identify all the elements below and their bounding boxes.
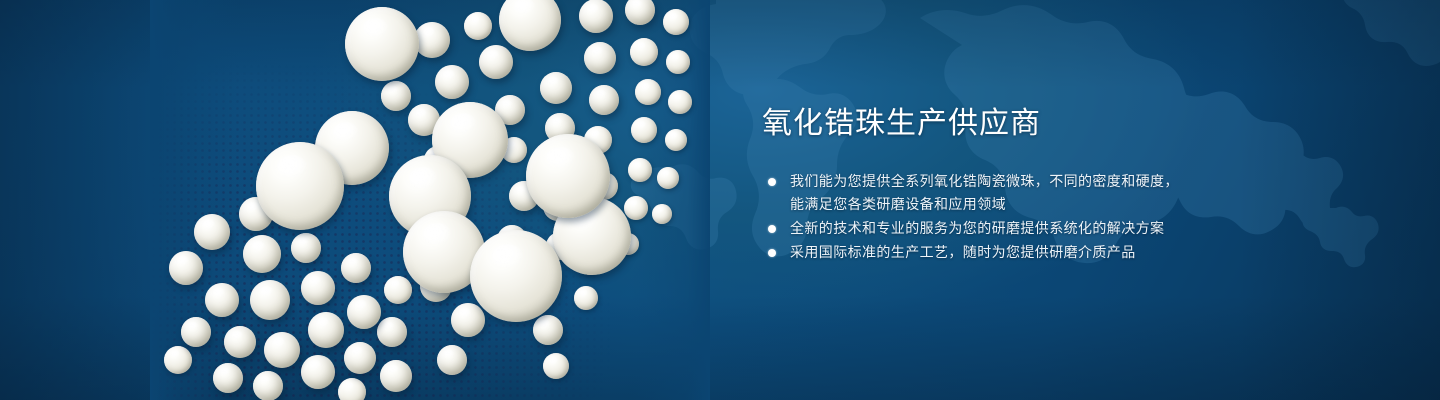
zirconia-bead (164, 346, 192, 374)
zirconia-bead (630, 38, 658, 66)
zirconia-bead (380, 360, 412, 392)
zirconia-bead (384, 276, 412, 304)
zirconia-bead (213, 363, 243, 393)
zirconia-bead (470, 230, 562, 322)
zirconia-bead (308, 312, 344, 348)
zirconia-bead (205, 283, 239, 317)
zirconia-bead (631, 117, 657, 143)
zirconia-bead (301, 355, 335, 389)
zirconia-bead (533, 315, 563, 345)
zirconia-bead (668, 90, 692, 114)
zirconia-bead (437, 345, 467, 375)
zirconia-bead (464, 12, 492, 40)
feature-list-item: 我们能为您提供全系列氧化锆陶瓷微珠，不同的密度和硬度，能满足您各类研磨设备和应用… (762, 170, 1382, 216)
zirconia-bead (624, 196, 648, 220)
zirconia-bead (589, 85, 619, 115)
zirconia-bead (584, 42, 616, 74)
banner-copy: 氧化锆珠生产供应商 我们能为您提供全系列氧化锆陶瓷微珠，不同的密度和硬度，能满足… (762, 104, 1382, 265)
zirconia-bead (224, 326, 256, 358)
bullet-dot-icon (768, 178, 776, 186)
zirconia-bead (381, 81, 411, 111)
feature-list-item-line: 我们能为您提供全系列氧化锆陶瓷微珠，不同的密度和硬度， (790, 170, 1382, 193)
zirconia-bead (574, 286, 598, 310)
feature-list: 我们能为您提供全系列氧化锆陶瓷微珠，不同的密度和硬度，能满足您各类研磨设备和应用… (762, 170, 1382, 264)
zirconia-bead (526, 134, 610, 218)
zirconia-bead (625, 0, 655, 25)
zirconia-bead (250, 280, 290, 320)
zirconia-bead (347, 295, 381, 329)
zirconia-bead (243, 235, 281, 273)
feature-list-item-line: 采用国际标准的生产工艺，随时为您提供研磨介质产品 (790, 241, 1382, 264)
zirconia-bead (264, 332, 300, 368)
zirconia-bead (663, 9, 689, 35)
zirconia-bead (451, 303, 485, 337)
zirconia-bead (657, 167, 679, 189)
zirconia-bead (540, 72, 572, 104)
zirconia-bead (338, 378, 366, 400)
zirconia-bead (377, 317, 407, 347)
zirconia-bead (345, 7, 419, 81)
zirconia-bead (499, 0, 561, 51)
zirconia-bead (414, 22, 450, 58)
zirconia-bead (301, 271, 335, 305)
zirconia-bead (291, 233, 321, 263)
bead-cluster (150, 0, 710, 400)
zirconia-bead (256, 142, 344, 230)
zirconia-bead (181, 317, 211, 347)
zirconia-bead (665, 129, 687, 151)
zirconia-bead (666, 50, 690, 74)
hero-banner: 氧化锆珠生产供应商 我们能为您提供全系列氧化锆陶瓷微珠，不同的密度和硬度，能满足… (0, 0, 1440, 400)
zirconia-bead (435, 65, 469, 99)
zirconia-bead (579, 0, 613, 33)
feature-list-item: 采用国际标准的生产工艺，随时为您提供研磨介质产品 (762, 241, 1382, 264)
zirconia-bead (628, 158, 652, 182)
page-title: 氧化锆珠生产供应商 (762, 104, 1382, 144)
feature-list-item-line: 能满足您各类研磨设备和应用领域 (790, 193, 1382, 216)
zirconia-beads-photo (150, 0, 710, 400)
zirconia-bead (253, 371, 283, 400)
zirconia-bead (543, 353, 569, 379)
zirconia-bead (169, 251, 203, 285)
zirconia-bead (194, 214, 230, 250)
zirconia-bead (344, 342, 376, 374)
bullet-dot-icon (768, 249, 776, 257)
bullet-dot-icon (768, 225, 776, 233)
zirconia-bead (479, 45, 513, 79)
zirconia-bead (341, 253, 371, 283)
zirconia-bead (635, 79, 661, 105)
feature-list-item-line: 全新的技术和专业的服务为您的研磨提供系统化的解决方案 (790, 217, 1382, 240)
zirconia-bead (652, 204, 672, 224)
feature-list-item: 全新的技术和专业的服务为您的研磨提供系统化的解决方案 (762, 217, 1382, 240)
